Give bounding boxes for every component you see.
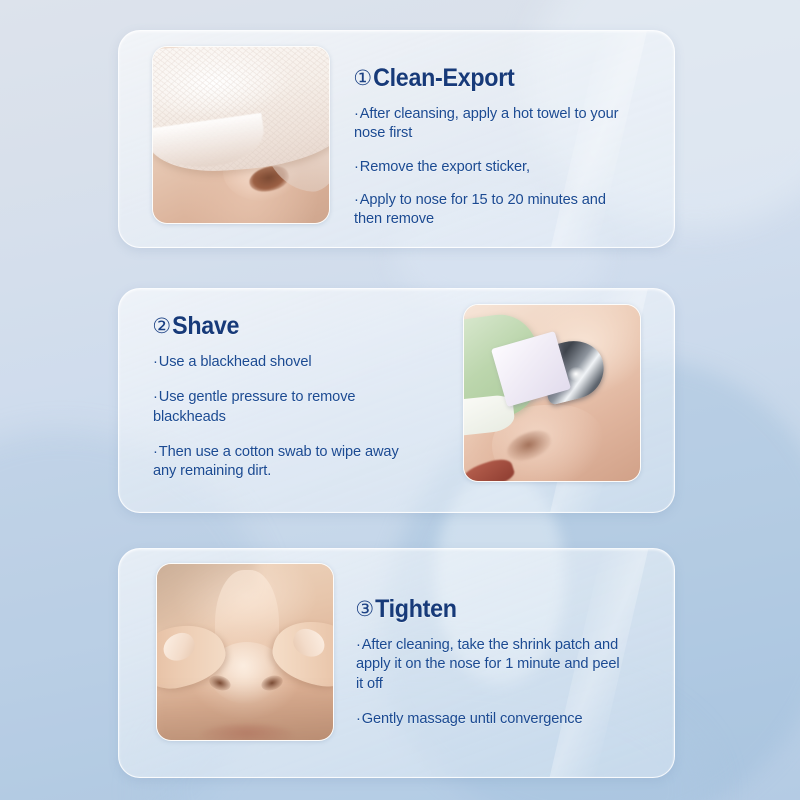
step-1-text: ① Clean-Export After cleansing, apply a … [330, 31, 674, 229]
list-item: Remove the export sticker, [354, 158, 622, 177]
step-3-text: ③ Tighten After cleaning, take the shrin… [334, 549, 674, 745]
step-1-title: Clean-Export [373, 66, 514, 91]
fingers-massaging-nose-photo [156, 563, 334, 741]
nose-with-cleansing-strip-photo [152, 46, 330, 224]
step-2-heading: ② Shave [153, 314, 434, 339]
list-item: Apply to nose for 15 to 20 minutes and t… [354, 191, 622, 230]
step-number-icon: ③ [355, 599, 373, 620]
step-card-2: ② Shave Use a blackhead shovel Use gentl… [118, 288, 675, 513]
step-3-bullet-list: After cleaning, take the shrink patch an… [356, 636, 660, 729]
list-item: Gently massage until convergence [356, 710, 626, 729]
step-3-heading: ③ Tighten [356, 597, 639, 622]
step-2-title: Shave [172, 314, 239, 339]
step-number-icon: ① [353, 68, 371, 89]
step-3-title: Tighten [375, 597, 457, 622]
list-item: Use gentle pressure to remove blackheads [153, 388, 403, 427]
instruction-poster: ① Clean-Export After cleansing, apply a … [0, 0, 800, 800]
list-item: After cleansing, apply a hot towel to yo… [354, 105, 622, 144]
list-item: After cleaning, take the shrink patch an… [356, 636, 626, 694]
step-number-icon: ② [152, 316, 170, 337]
step-1-bullet-list: After cleansing, apply a hot towel to yo… [354, 105, 658, 229]
step-2-bullet-list: Use a blackhead shovel Use gentle pressu… [153, 353, 455, 481]
blackhead-shovel-tool-photo [463, 304, 641, 482]
step-2-text: ② Shave Use a blackhead shovel Use gentl… [119, 289, 463, 497]
list-item: Use a blackhead shovel [153, 353, 403, 372]
step-1-heading: ① Clean-Export [354, 66, 637, 91]
step-card-3: ③ Tighten After cleaning, take the shrin… [118, 548, 675, 778]
step-card-1: ① Clean-Export After cleansing, apply a … [118, 30, 675, 248]
list-item: Then use a cotton swab to wipe away any … [153, 443, 403, 482]
